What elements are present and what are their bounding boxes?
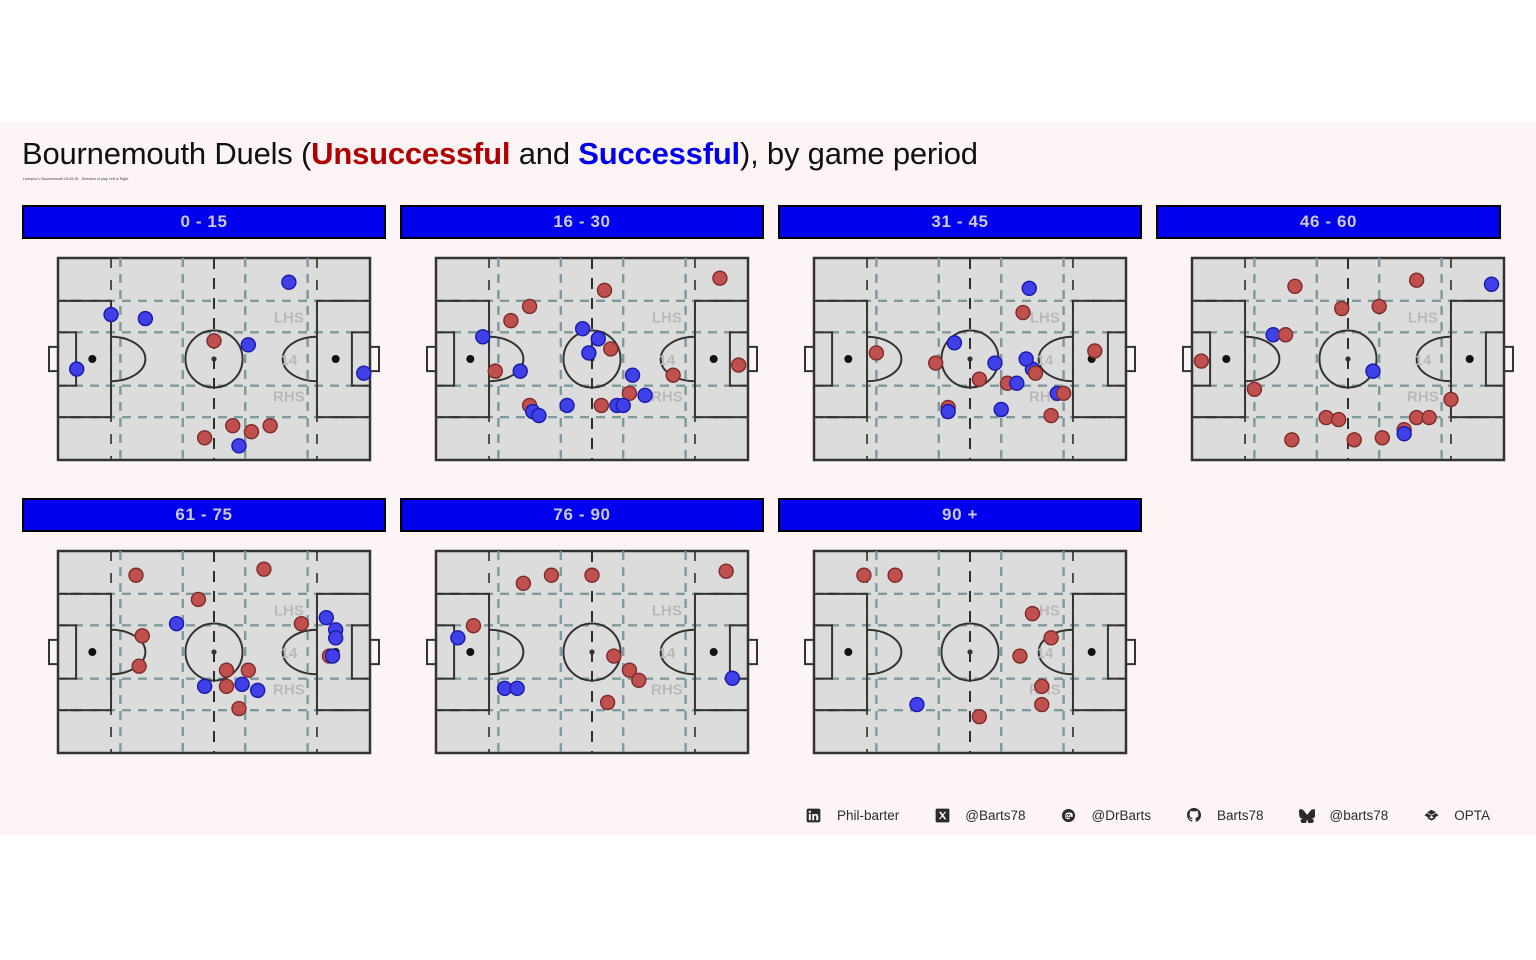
pitch-plot: LHS14RHS <box>804 255 1142 463</box>
pitch-plot: LHS14RHS <box>1182 255 1501 463</box>
period-header[interactable]: 31 - 45 <box>778 205 1142 239</box>
github-icon[interactable] <box>1181 807 1207 823</box>
title-successful: Successful <box>578 136 740 171</box>
title-unsuccessful: Unsuccessful <box>311 136 510 171</box>
page-subtitle: Liverpool v Bournemouth 15-08-25 - Direc… <box>23 177 128 181</box>
period-label: 0 - 15 <box>180 212 227 232</box>
period-header[interactable]: 46 - 60 <box>1156 205 1501 239</box>
svg-text:14: 14 <box>1415 352 1432 369</box>
svg-text:14: 14 <box>659 645 676 662</box>
period-label: 46 - 60 <box>1300 212 1357 232</box>
svg-text:RHS: RHS <box>651 681 683 698</box>
period-label: 76 - 90 <box>553 505 610 525</box>
svg-text:LHS: LHS <box>1408 310 1438 327</box>
period-label: 31 - 45 <box>931 212 988 232</box>
footer-item[interactable]: @DrBarts <box>1056 808 1179 823</box>
footer-item[interactable]: Barts78 <box>1181 807 1292 823</box>
footer-handle: OPTA <box>1454 808 1490 823</box>
x-twitter-icon[interactable] <box>929 808 955 823</box>
svg-text:14: 14 <box>281 352 298 369</box>
period-panel: 90 +LHS14RHS <box>778 498 1142 756</box>
period-header[interactable]: 61 - 75 <box>22 498 386 532</box>
svg-text:RHS: RHS <box>273 388 305 405</box>
svg-text:LHS: LHS <box>274 310 304 327</box>
footer-item[interactable]: @barts78 <box>1294 808 1417 823</box>
footer-credits: Phil-barter@Barts78@DrBartsBarts78@barts… <box>0 790 1536 840</box>
linkedin-icon[interactable] <box>801 808 827 823</box>
period-label: 90 + <box>942 505 978 525</box>
footer-handle: @Barts78 <box>965 808 1025 823</box>
footer-item[interactable]: @Barts78 <box>929 808 1053 823</box>
svg-text:14: 14 <box>281 645 298 662</box>
title-end: ), by game period <box>740 136 978 171</box>
title-mid: Duels ( <box>206 136 311 171</box>
svg-text:LHS: LHS <box>652 603 682 620</box>
period-panel: 46 - 60LHS14RHS <box>1156 205 1501 463</box>
opta-icon[interactable] <box>1418 808 1444 823</box>
chart-canvas: Bournemouth Duels (Unsuccessful and Succ… <box>0 122 1536 835</box>
footer-handle: Barts78 <box>1217 808 1264 823</box>
footer-item[interactable]: Phil-barter <box>801 808 927 823</box>
period-label: 16 - 30 <box>553 212 610 232</box>
period-panel: 76 - 90LHS14RHS <box>400 498 764 756</box>
page-title: Bournemouth Duels (Unsuccessful and Succ… <box>22 136 978 172</box>
period-header[interactable]: 0 - 15 <box>22 205 386 239</box>
title-team: Bournemouth <box>22 136 206 171</box>
svg-text:LHS: LHS <box>652 310 682 327</box>
mastodon-icon[interactable] <box>1056 808 1082 823</box>
svg-text:RHS: RHS <box>1407 388 1439 405</box>
bluesky-butterfly-icon[interactable] <box>1294 808 1320 823</box>
pitch-plot: LHS14RHS <box>426 548 764 756</box>
period-panel: 0 - 15LHS14RHS <box>22 205 386 463</box>
pitch-plot: LHS14RHS <box>426 255 764 463</box>
pitch-plot: LHS14RHS <box>48 255 386 463</box>
period-header[interactable]: 90 + <box>778 498 1142 532</box>
period-header[interactable]: 16 - 30 <box>400 205 764 239</box>
svg-text:LHS: LHS <box>1030 310 1060 327</box>
svg-text:14: 14 <box>659 352 676 369</box>
title-and: and <box>510 136 578 171</box>
footer-handle: @DrBarts <box>1092 808 1151 823</box>
period-panel: 16 - 30LHS14RHS <box>400 205 764 463</box>
period-header[interactable]: 76 - 90 <box>400 498 764 532</box>
footer-handle: Phil-barter <box>837 808 899 823</box>
footer-item[interactable]: OPTA <box>1418 808 1490 823</box>
pitch-plot: LHS14RHS <box>804 548 1142 756</box>
pitch-plot: LHS14RHS <box>48 548 386 756</box>
period-panel: 31 - 45LHS14RHS <box>778 205 1142 463</box>
svg-text:RHS: RHS <box>273 681 305 698</box>
svg-text:RHS: RHS <box>651 388 683 405</box>
footer-handle: @barts78 <box>1330 808 1389 823</box>
period-label: 61 - 75 <box>175 505 232 525</box>
svg-text:14: 14 <box>1037 645 1054 662</box>
period-panel: 61 - 75LHS14RHS <box>22 498 386 756</box>
